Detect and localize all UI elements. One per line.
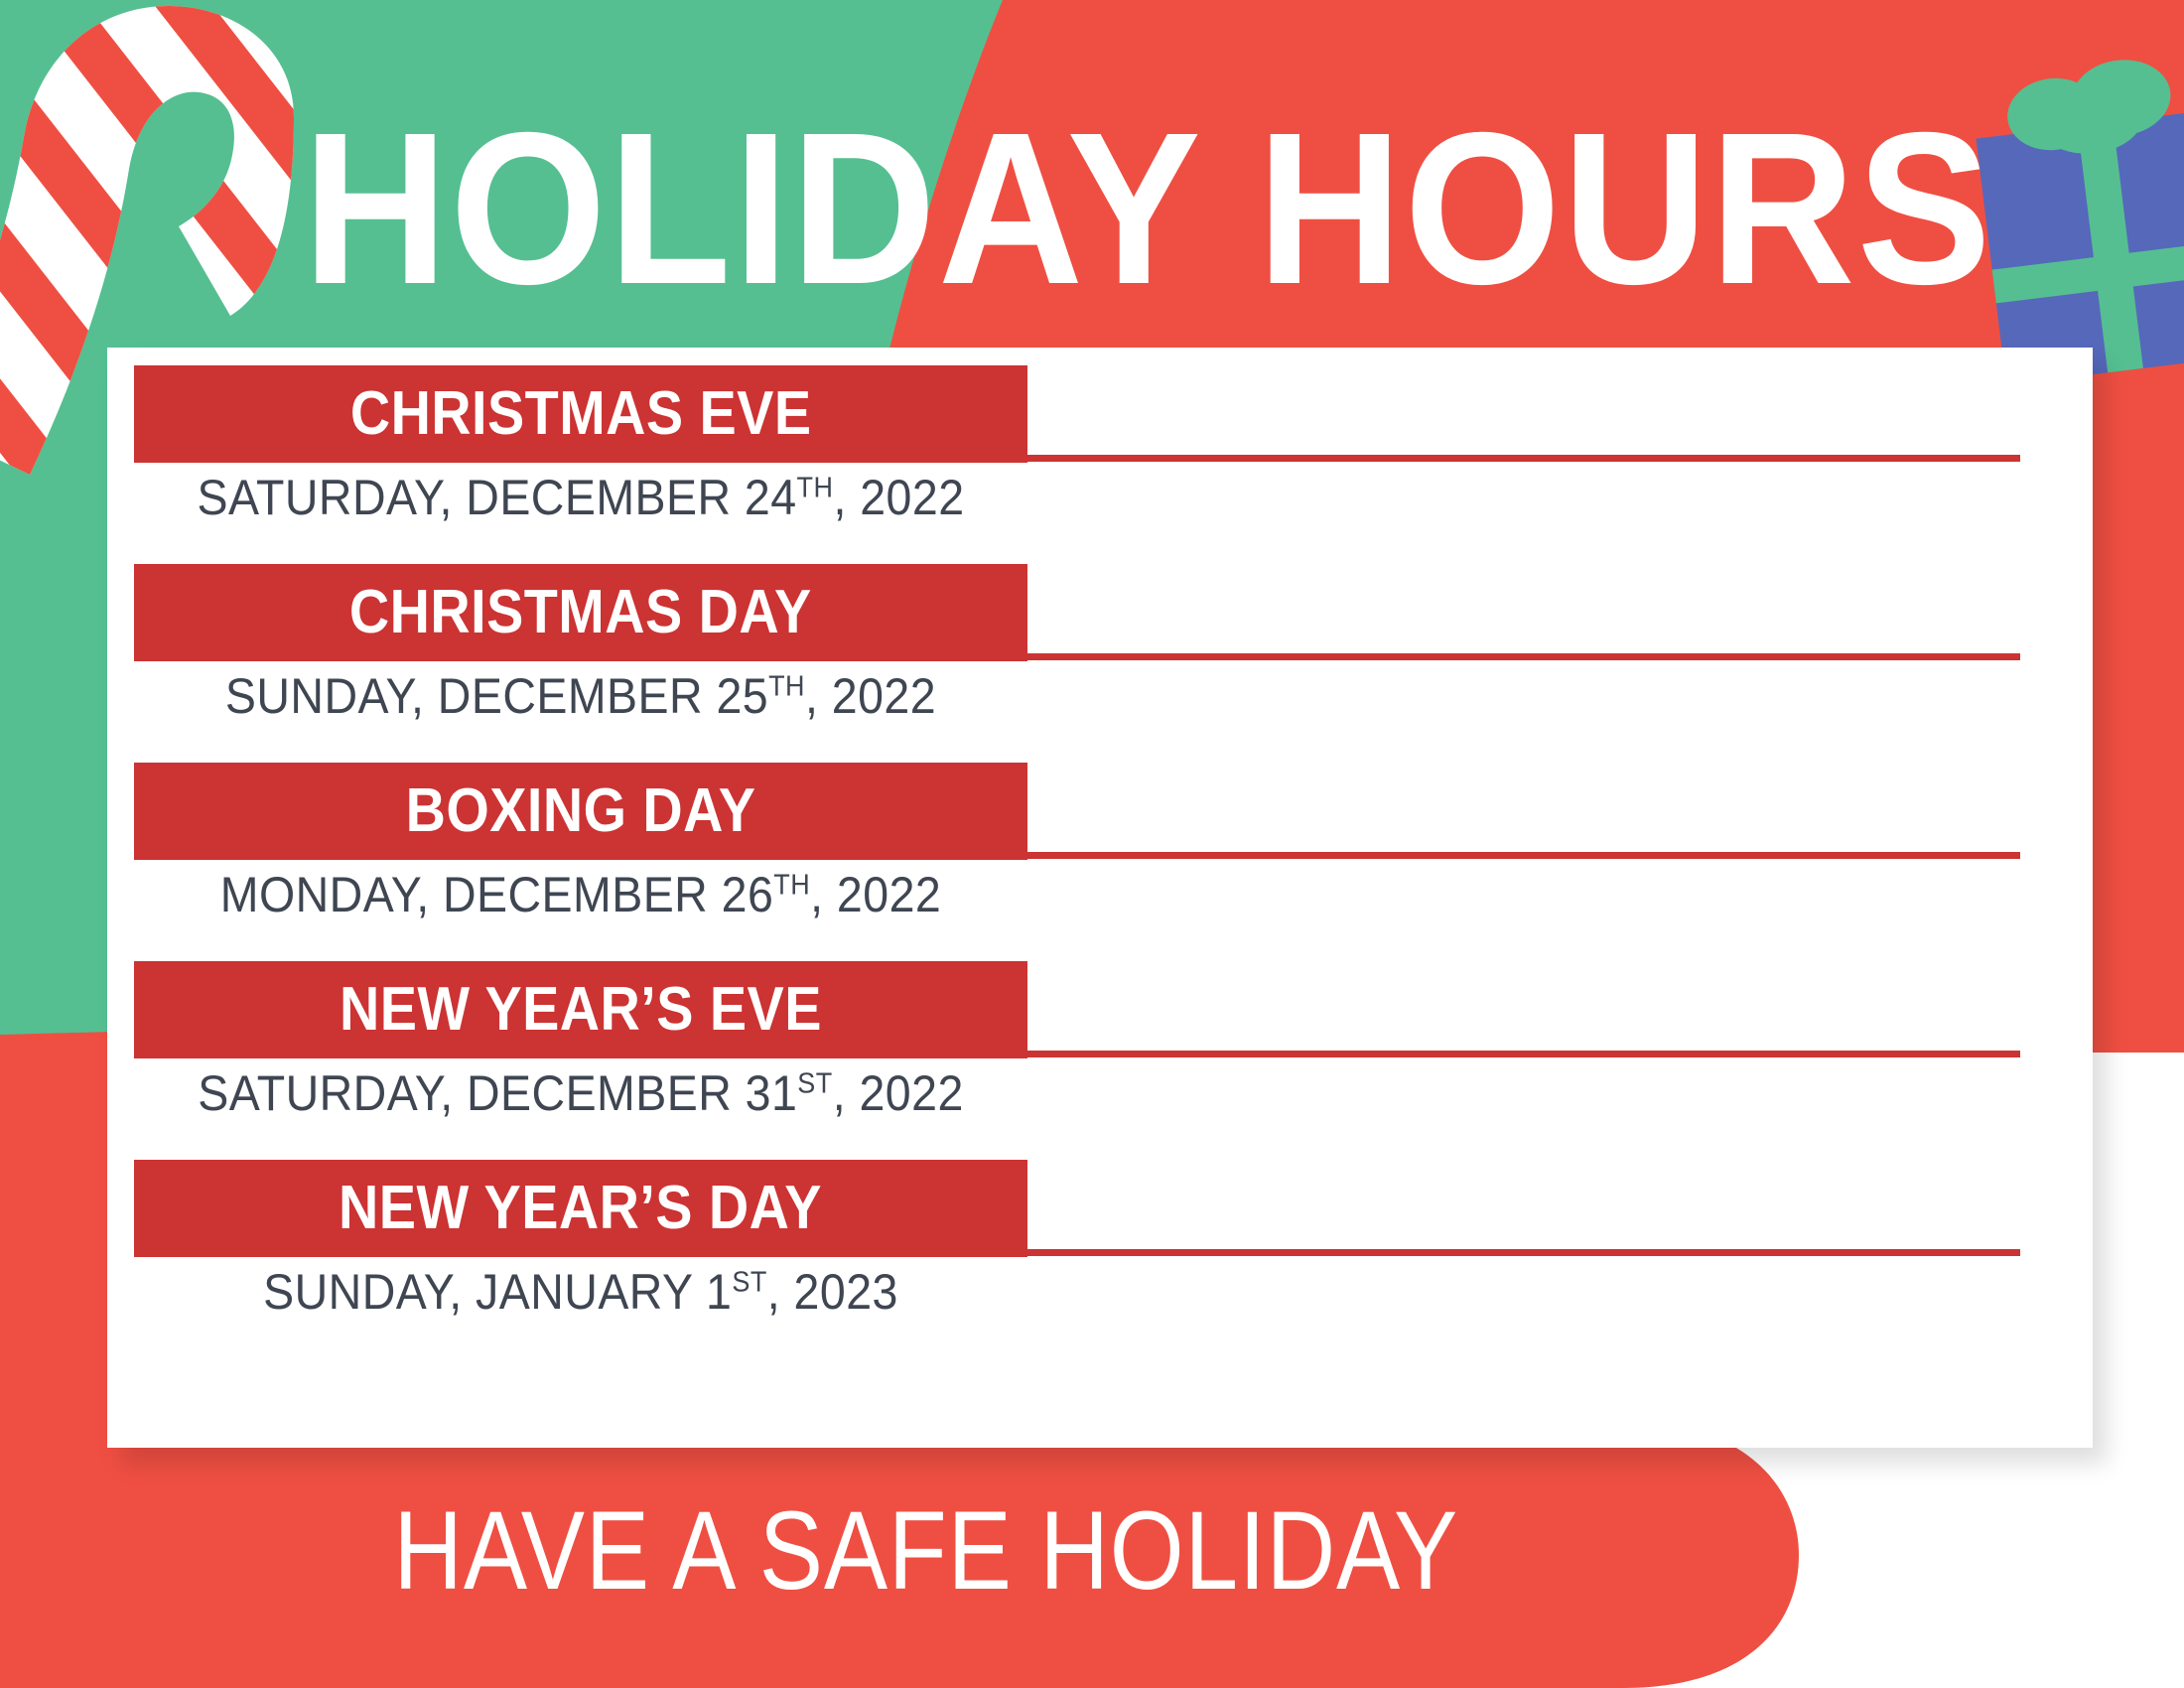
holiday-name-band: NEW YEAR’S EVE <box>134 961 1027 1058</box>
hours-write-in-line[interactable] <box>1027 455 2020 462</box>
holiday-name-label: NEW YEAR’S EVE <box>340 979 822 1041</box>
holiday-date: MONDAY, DECEMBER 26TH, 2022 <box>166 866 997 923</box>
holiday-name-band: CHRISTMAS DAY <box>134 564 1027 661</box>
holiday-date-prefix: SATURDAY, DECEMBER 31 <box>198 1065 797 1121</box>
holiday-date-prefix: MONDAY, DECEMBER 26 <box>220 867 774 922</box>
holiday-date-suffix: , 2022 <box>810 867 941 922</box>
holiday-date-suffix: , 2022 <box>833 1065 964 1121</box>
holiday-date: SUNDAY, DECEMBER 25TH, 2022 <box>166 667 997 725</box>
holiday-name-label: BOXING DAY <box>406 780 756 842</box>
background-red-bottom-banner <box>0 1422 1799 1688</box>
hours-write-in-line[interactable] <box>1027 1249 2020 1256</box>
holiday-date-suffix: , 2022 <box>833 470 964 525</box>
holiday-date-prefix: SUNDAY, JANUARY 1 <box>263 1264 732 1320</box>
holiday-date-ordinal: ST <box>797 1067 832 1099</box>
hours-card: CHRISTMAS EVESATURDAY, DECEMBER 24TH, 20… <box>107 348 2093 1448</box>
holiday-name-label: CHRISTMAS EVE <box>350 383 812 445</box>
holiday-date-prefix: SATURDAY, DECEMBER 24 <box>197 470 796 525</box>
holiday-date-ordinal: TH <box>797 472 834 503</box>
holiday-name-band: NEW YEAR’S DAY <box>134 1160 1027 1257</box>
holiday-date-ordinal: TH <box>773 869 810 901</box>
holiday-name-label: NEW YEAR’S DAY <box>340 1178 823 1239</box>
holiday-date-ordinal: TH <box>768 670 805 702</box>
holiday-date-suffix: , 2023 <box>767 1264 898 1320</box>
holiday-name-label: CHRISTMAS DAY <box>349 582 812 643</box>
holiday-hours-poster: HOLIDAY HOURS CHRISTMAS EVESATURDAY, DEC… <box>0 0 2184 1688</box>
hours-write-in-line[interactable] <box>1027 852 2020 859</box>
holiday-name-band: BOXING DAY <box>134 763 1027 860</box>
holiday-date-prefix: SUNDAY, DECEMBER 25 <box>225 668 768 724</box>
holiday-name-band: CHRISTMAS EVE <box>134 365 1027 463</box>
holiday-rows-list: CHRISTMAS EVESATURDAY, DECEMBER 24TH, 20… <box>107 348 2093 1448</box>
holiday-date: SUNDAY, JANUARY 1ST, 2023 <box>166 1263 997 1321</box>
holiday-date-ordinal: ST <box>732 1266 766 1298</box>
hours-write-in-line[interactable] <box>1027 1051 2020 1057</box>
holiday-date: SATURDAY, DECEMBER 24TH, 2022 <box>166 469 997 526</box>
holiday-date-suffix: , 2022 <box>805 668 936 724</box>
holiday-date: SATURDAY, DECEMBER 31ST, 2022 <box>166 1064 997 1122</box>
hours-write-in-line[interactable] <box>1027 653 2020 660</box>
